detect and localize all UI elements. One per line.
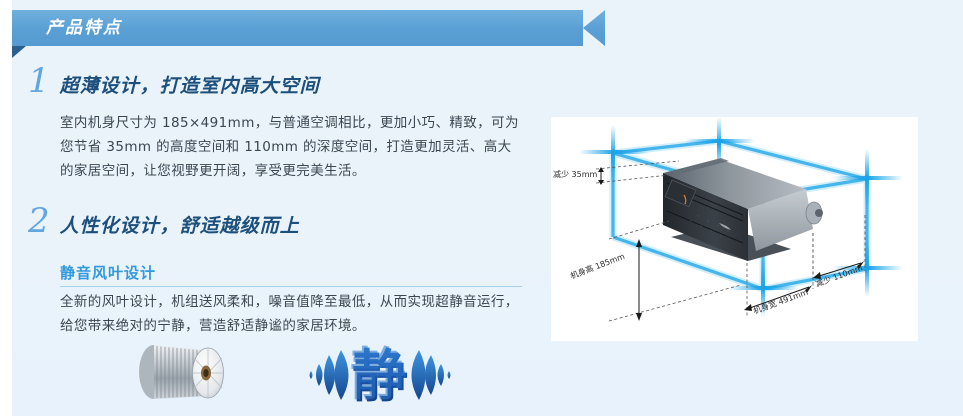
product-dimension-image: 减少 35mm 机身高 185mm 机身宽 491mm 减少 110mm	[551, 117, 918, 341]
section-2-number: 2	[28, 204, 50, 238]
section-2-heading: 2 人性化设计，舒适越级而上	[28, 204, 300, 239]
subheading-divider	[60, 286, 522, 287]
banner-title: 产品特点	[46, 18, 122, 38]
section-banner: 产品特点	[12, 10, 612, 46]
section-1-title: 超薄设计，打造室内高大空间	[60, 73, 320, 99]
cross-flow-fan-icon	[126, 336, 238, 412]
banner-notch-icon	[583, 10, 605, 46]
svg-text:静: 静	[350, 343, 406, 408]
section-1-heading: 1 超薄设计，打造室内高大空间	[28, 64, 320, 99]
section-2-title: 人性化设计，舒适越级而上	[60, 213, 300, 239]
section-1-body: 室内机身尺寸为 185×491mm，与普通空调相比，更加小巧、精致，可为您节省 …	[60, 111, 522, 183]
dimension-label-reduce-height: 减少 35mm	[553, 170, 597, 180]
section-2-body: 全新的风叶设计，机组送风柔和，噪音值降至最低，从而实现超静音运行，给您带来绝对的…	[60, 290, 522, 338]
section-1-number: 1	[28, 64, 50, 98]
sound-wave-right-icon	[412, 350, 451, 400]
quiet-badge: 静 静	[305, 338, 455, 412]
content-column: 1 超薄设计，打造室内高大空间 室内机身尺寸为 185×491mm，与普通空调相…	[0, 56, 545, 416]
product-feature-page: 产品特点 1 超薄设计，打造室内高大空间 室内机身尺寸为 185×491mm，与…	[0, 0, 963, 416]
indoor-unit-body	[663, 158, 823, 261]
sound-wave-left-icon	[310, 350, 349, 400]
section-2-subheading: 静音风叶设计	[60, 263, 156, 283]
